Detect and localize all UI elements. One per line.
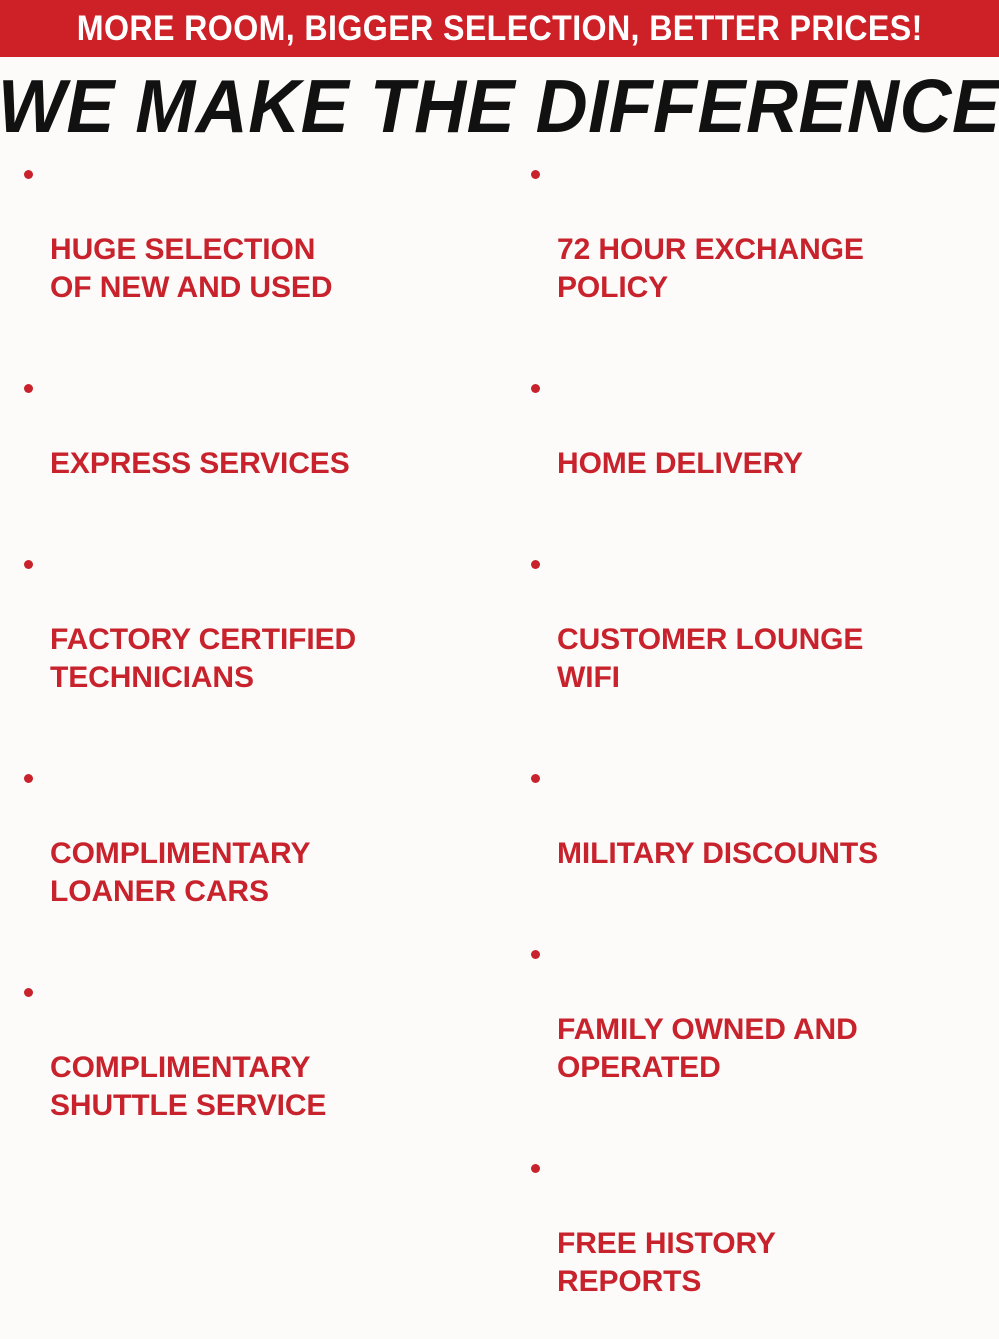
bullet-dot-icon: [24, 774, 33, 783]
list-item: COMPLIMENTARY LOANER CARS: [18, 759, 499, 949]
bullet-dot-icon: [24, 170, 33, 179]
bullet-dot-icon: [531, 1164, 540, 1173]
list-item-label: FAMILY OWNED AND OPERATED: [557, 1011, 997, 1087]
tagline-text: MORE ROOM, BIGGER SELECTION, BETTER PRIC…: [77, 11, 923, 47]
bullet-dot-icon: [531, 560, 540, 569]
list-item: EXPRESS SERVICES: [18, 369, 499, 521]
list-item: 72 HOUR EXCHANGE POLICY: [525, 155, 997, 345]
list-item: FAMILY OWNED AND OPERATED: [525, 935, 997, 1125]
bullet-dot-icon: [24, 384, 33, 393]
list-item-label: CUSTOMER LOUNGE WIFI: [557, 621, 997, 697]
benefits-column-right: 72 HOUR EXCHANGE POLICY HOME DELIVERY CU…: [505, 155, 999, 692]
bullet-dot-icon: [531, 384, 540, 393]
benefits-column-left: HUGE SELECTION OF NEW AND USED EXPRESS S…: [0, 155, 505, 692]
bullet-dot-icon: [531, 950, 540, 959]
list-item: COMPLIMENTARY SHUTTLE SERVICE: [18, 973, 499, 1163]
list-item: MILITARY DISCOUNTS: [525, 759, 997, 911]
list-item-label: FACTORY CERTIFIED TECHNICIANS: [50, 621, 499, 697]
benefits-list-left: HUGE SELECTION OF NEW AND USED EXPRESS S…: [18, 155, 499, 1163]
list-item: HOME DELIVERY: [525, 369, 997, 521]
benefits-list-right: 72 HOUR EXCHANGE POLICY HOME DELIVERY CU…: [525, 155, 997, 1339]
list-item: FACTORY CERTIFIED TECHNICIANS: [18, 545, 499, 735]
list-item: FREE HISTORY REPORTS: [525, 1149, 997, 1339]
page-title: WE MAKE THE DIFFERENCE: [0, 66, 999, 146]
list-item-label: FREE HISTORY REPORTS: [557, 1225, 997, 1301]
list-item-label: COMPLIMENTARY LOANER CARS: [50, 835, 499, 911]
list-item-label: EXPRESS SERVICES: [50, 445, 499, 483]
list-item-label: HOME DELIVERY: [557, 445, 997, 483]
list-item-label: COMPLIMENTARY SHUTTLE SERVICE: [50, 1049, 499, 1125]
bullet-dot-icon: [531, 774, 540, 783]
promotional-banner: MORE ROOM, BIGGER SELECTION, BETTER PRIC…: [0, 0, 999, 692]
benefits-columns: HUGE SELECTION OF NEW AND USED EXPRESS S…: [0, 155, 999, 692]
list-item-label: MILITARY DISCOUNTS: [557, 835, 997, 873]
headline-container: WE MAKE THE DIFFERENCE: [0, 62, 999, 150]
bullet-dot-icon: [531, 170, 540, 179]
list-item-label: 72 HOUR EXCHANGE POLICY: [557, 231, 997, 307]
bullet-dot-icon: [24, 560, 33, 569]
list-item-label: HUGE SELECTION OF NEW AND USED: [50, 231, 499, 307]
list-item: HUGE SELECTION OF NEW AND USED: [18, 155, 499, 345]
bullet-dot-icon: [24, 988, 33, 997]
list-item: CUSTOMER LOUNGE WIFI: [525, 545, 997, 735]
top-tagline-strip: MORE ROOM, BIGGER SELECTION, BETTER PRIC…: [0, 0, 999, 57]
